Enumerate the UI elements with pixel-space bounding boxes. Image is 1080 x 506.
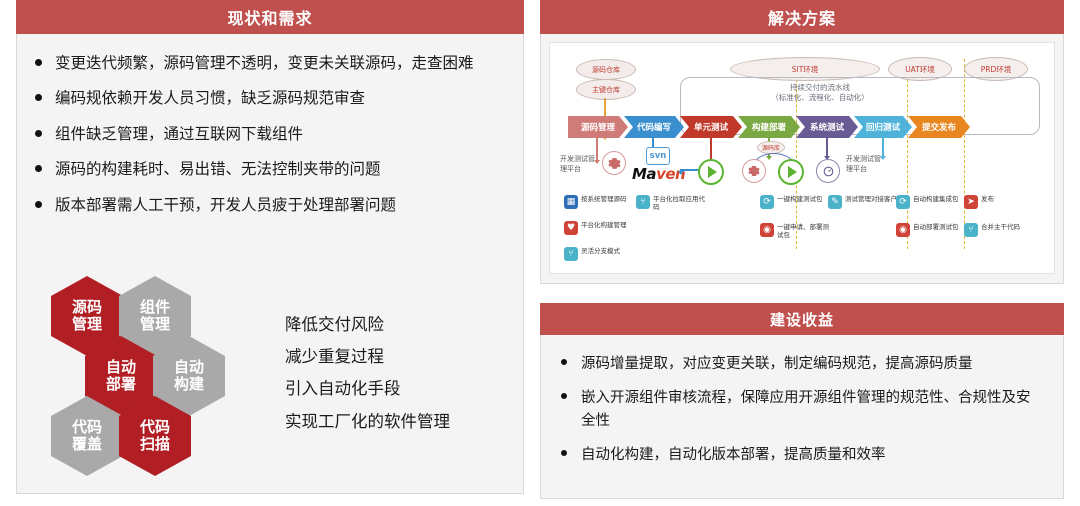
- hexagon-label-line1: 源码: [72, 299, 102, 316]
- list-item: 源码增量提取，对应变更关联，制定编码规范，提高源码质量: [559, 353, 1041, 375]
- label-dev-test-platform-left-2: 理平台: [560, 165, 581, 174]
- play-triangle: [788, 166, 797, 178]
- hexagon-label-line1: 组件: [140, 299, 170, 316]
- legend-item-auto-build-integration: ⟳ 自动构建集成包: [896, 195, 959, 209]
- heart-icon: ♥: [564, 221, 578, 235]
- current-status-bullet-list: 变更迭代频繁，源码管理不透明，变更未关联源码，走查困难 编码规依赖开发人员习惯，…: [33, 52, 507, 216]
- branch-icon: ⑂: [636, 195, 650, 209]
- list-item: 组件缺乏管理，通过互联网下载组件: [33, 123, 507, 145]
- legend-item-platform-pull-code: ⑂ 平台化拉取应用代码: [636, 195, 705, 211]
- legend-item-platform-build-management: ♥ 平台化构建管理: [564, 221, 627, 235]
- hexagon-label-line1: 自动: [174, 359, 204, 376]
- panel-benefit: 建设收益 源码增量提取，对应变更关联，制定编码规范，提高源码质量 嵌入开源组件审…: [540, 303, 1064, 499]
- legend-item-flexible-branching: ⑂ 灵活分支模式: [564, 247, 620, 261]
- panel-benefit-body: 源码增量提取，对应变更关联，制定编码规范，提高源码质量 嵌入开源组件审核流程，保…: [541, 335, 1063, 467]
- stage-system-test[interactable]: 系统测试: [796, 116, 858, 138]
- legend-label: 灵活分支模式: [581, 247, 620, 255]
- label-dev-test-platform-right: 开发测试管: [846, 155, 881, 164]
- stem-unit-test: [710, 138, 712, 160]
- panel-current-status-title: 现状和需求: [16, 0, 524, 34]
- panel-solution: 解决方案 源码仓库 主键仓库 SIT环境 UAT环境 PRD环境 持续交付的流水…: [540, 0, 1064, 284]
- pipeline-caption-line2: （标准化、流程化、自动化）: [750, 93, 890, 103]
- panel-current-status-body: 变更迭代频繁，源码管理不透明，变更未关联源码，走查困难 编码规依赖开发人员习惯，…: [17, 34, 523, 216]
- hexagon-label-line2: 构建: [174, 376, 204, 393]
- stem-system-test: [826, 138, 828, 156]
- deploy-icon: ◉: [760, 223, 774, 237]
- legend-item-one-click-apply-deploy: ◉ 一键申请、部署测试包: [760, 223, 829, 239]
- stage-code-writing[interactable]: 代码编写: [624, 116, 684, 138]
- panel-benefit-title: 建设收益: [540, 303, 1064, 335]
- legend-label: 平台化构建管理: [581, 221, 627, 229]
- gauge-icon-svg: [822, 165, 835, 178]
- play-icon-unit-test: [698, 159, 724, 185]
- hexagon-label-line2: 部署: [106, 376, 136, 393]
- repo-source-code: 源码仓库: [576, 59, 636, 80]
- pipeline-caption-line1: 持续交付的流水线: [750, 83, 890, 93]
- benefit-bullet-list: 源码增量提取，对应变更关联，制定编码规范，提高源码质量 嵌入开源组件审核流程，保…: [559, 353, 1041, 467]
- stage-release[interactable]: 提交发布: [908, 116, 970, 138]
- list-item: 自动化构建，自动化版本部署，提高质量和效率: [559, 444, 1041, 466]
- edit-icon: ✎: [828, 195, 842, 209]
- panel-solution-body: 源码仓库 主键仓库 SIT环境 UAT环境 PRD环境 持续交付的流水线 （标准…: [541, 34, 1063, 274]
- rocket-icon: ➤: [964, 195, 978, 209]
- sync-icon: ⟳: [760, 195, 774, 209]
- legend-item-auto-deploy-test-package: ◉ 自动部署测试包: [896, 223, 959, 237]
- hexagon-label-line2: 管理: [72, 316, 102, 333]
- deploy-icon: ◉: [896, 223, 910, 237]
- legend-label: 平台化拉取应用代码: [653, 195, 705, 211]
- capability-hexagon-cluster: 源码 管理 组件 管理 自动 部署 自动 构建 代码 覆盖: [35, 266, 275, 506]
- stage-source-code-management[interactable]: 源码管理: [568, 116, 628, 138]
- legend-item-test-management-customer: ✎ 测试管理对接客户: [828, 195, 897, 209]
- gauge-icon: [816, 159, 840, 183]
- legend-label: 按系统管理源码: [581, 195, 627, 203]
- goal-line: 实现工厂化的软件管理: [285, 406, 515, 438]
- list-item: 嵌入开源组件审核流程，保障应用开源组件管理的规范性、合规性及安全性: [559, 387, 1041, 432]
- legend-label: 自动部署测试包: [913, 223, 959, 231]
- legend-label: 一键构建测试包: [777, 195, 823, 203]
- gear-icon-svg: [608, 157, 621, 170]
- legend-label: 合并主干代码: [981, 223, 1020, 231]
- slide-root: 现状和需求 变更迭代频繁，源码管理不透明，变更未关联源码，走查困难 编码规依赖开…: [0, 0, 1080, 503]
- panel-solution-title: 解决方案: [540, 0, 1064, 34]
- goal-line: 降低交付风险: [285, 309, 515, 341]
- cicd-pipeline-diagram: 源码仓库 主键仓库 SIT环境 UAT环境 PRD环境 持续交付的流水线 （标准…: [549, 42, 1055, 274]
- branch-icon: ⑂: [964, 223, 978, 237]
- hexagon-label-line1: 代码: [140, 419, 170, 436]
- stage-unit-test[interactable]: 单元测试: [680, 116, 742, 138]
- panel-current-status: 现状和需求 变更迭代频繁，源码管理不透明，变更未关联源码，走查困难 编码规依赖开…: [16, 0, 524, 494]
- play-triangle: [708, 166, 717, 178]
- legend-label: 测试管理对接客户: [845, 195, 897, 203]
- branch-icon: ⑂: [564, 247, 578, 261]
- legend-label: 发布: [981, 195, 994, 203]
- label-dev-test-platform-right-2: 理平台: [846, 165, 867, 174]
- hexagon-label-line2: 扫描: [140, 436, 170, 453]
- legend-label: 自动构建集成包: [913, 195, 959, 203]
- grid-icon: ▦: [564, 195, 578, 209]
- list-item: 版本部署需人工干预，开发人员疲于处理部署问题: [33, 194, 507, 216]
- legend-item-one-click-build-test-package: ⟳ 一键构建测试包: [760, 195, 823, 209]
- sync-icon: ⟳: [896, 195, 910, 209]
- stage-build-deploy[interactable]: 构建部署: [738, 116, 800, 138]
- list-item: 变更迭代频繁，源码管理不透明，变更未关联源码，走查困难: [33, 52, 507, 74]
- gear-icon: [602, 151, 626, 175]
- legend-item-manage-source-by-system: ▦ 按系统管理源码: [564, 195, 627, 209]
- mini-oval-source-repo-1: 源码库: [757, 141, 785, 154]
- stem-source-code: [596, 138, 598, 160]
- goal-line: 引入自动化手段: [285, 373, 515, 405]
- list-item: 源码的构建耗时、易出错、无法控制夹带的问题: [33, 158, 507, 180]
- hexagon-label-line1: 自动: [106, 359, 136, 376]
- goal-text-block: 降低交付风险 减少重复过程 引入自动化手段 实现工厂化的软件管理: [285, 309, 515, 438]
- goal-line: 减少重复过程: [285, 341, 515, 373]
- legend-item-merge-trunk-code: ⑂ 合并主干代码: [964, 223, 1020, 237]
- stem-regression-test: [882, 138, 884, 156]
- hexagon-label-line1: 代码: [72, 419, 102, 436]
- play-icon-build: [778, 159, 804, 185]
- hexagon-label-line2: 管理: [140, 316, 170, 333]
- label-dev-test-platform-left: 开发测试管: [560, 155, 595, 164]
- gear-icon-build: [742, 159, 766, 183]
- list-item: 编码规依赖开发人员习惯，缺乏源码规范审查: [33, 87, 507, 109]
- gear-icon-build-svg: [748, 165, 760, 177]
- legend-label: 一键申请、部署测试包: [777, 223, 829, 239]
- pipeline-caption: 持续交付的流水线 （标准化、流程化、自动化）: [750, 83, 890, 103]
- svn-icon: svn: [646, 147, 670, 165]
- legend-item-release: ➤ 发布: [964, 195, 994, 209]
- repo-build: 主键仓库: [576, 79, 636, 100]
- hexagon-label-line2: 覆盖: [72, 436, 102, 453]
